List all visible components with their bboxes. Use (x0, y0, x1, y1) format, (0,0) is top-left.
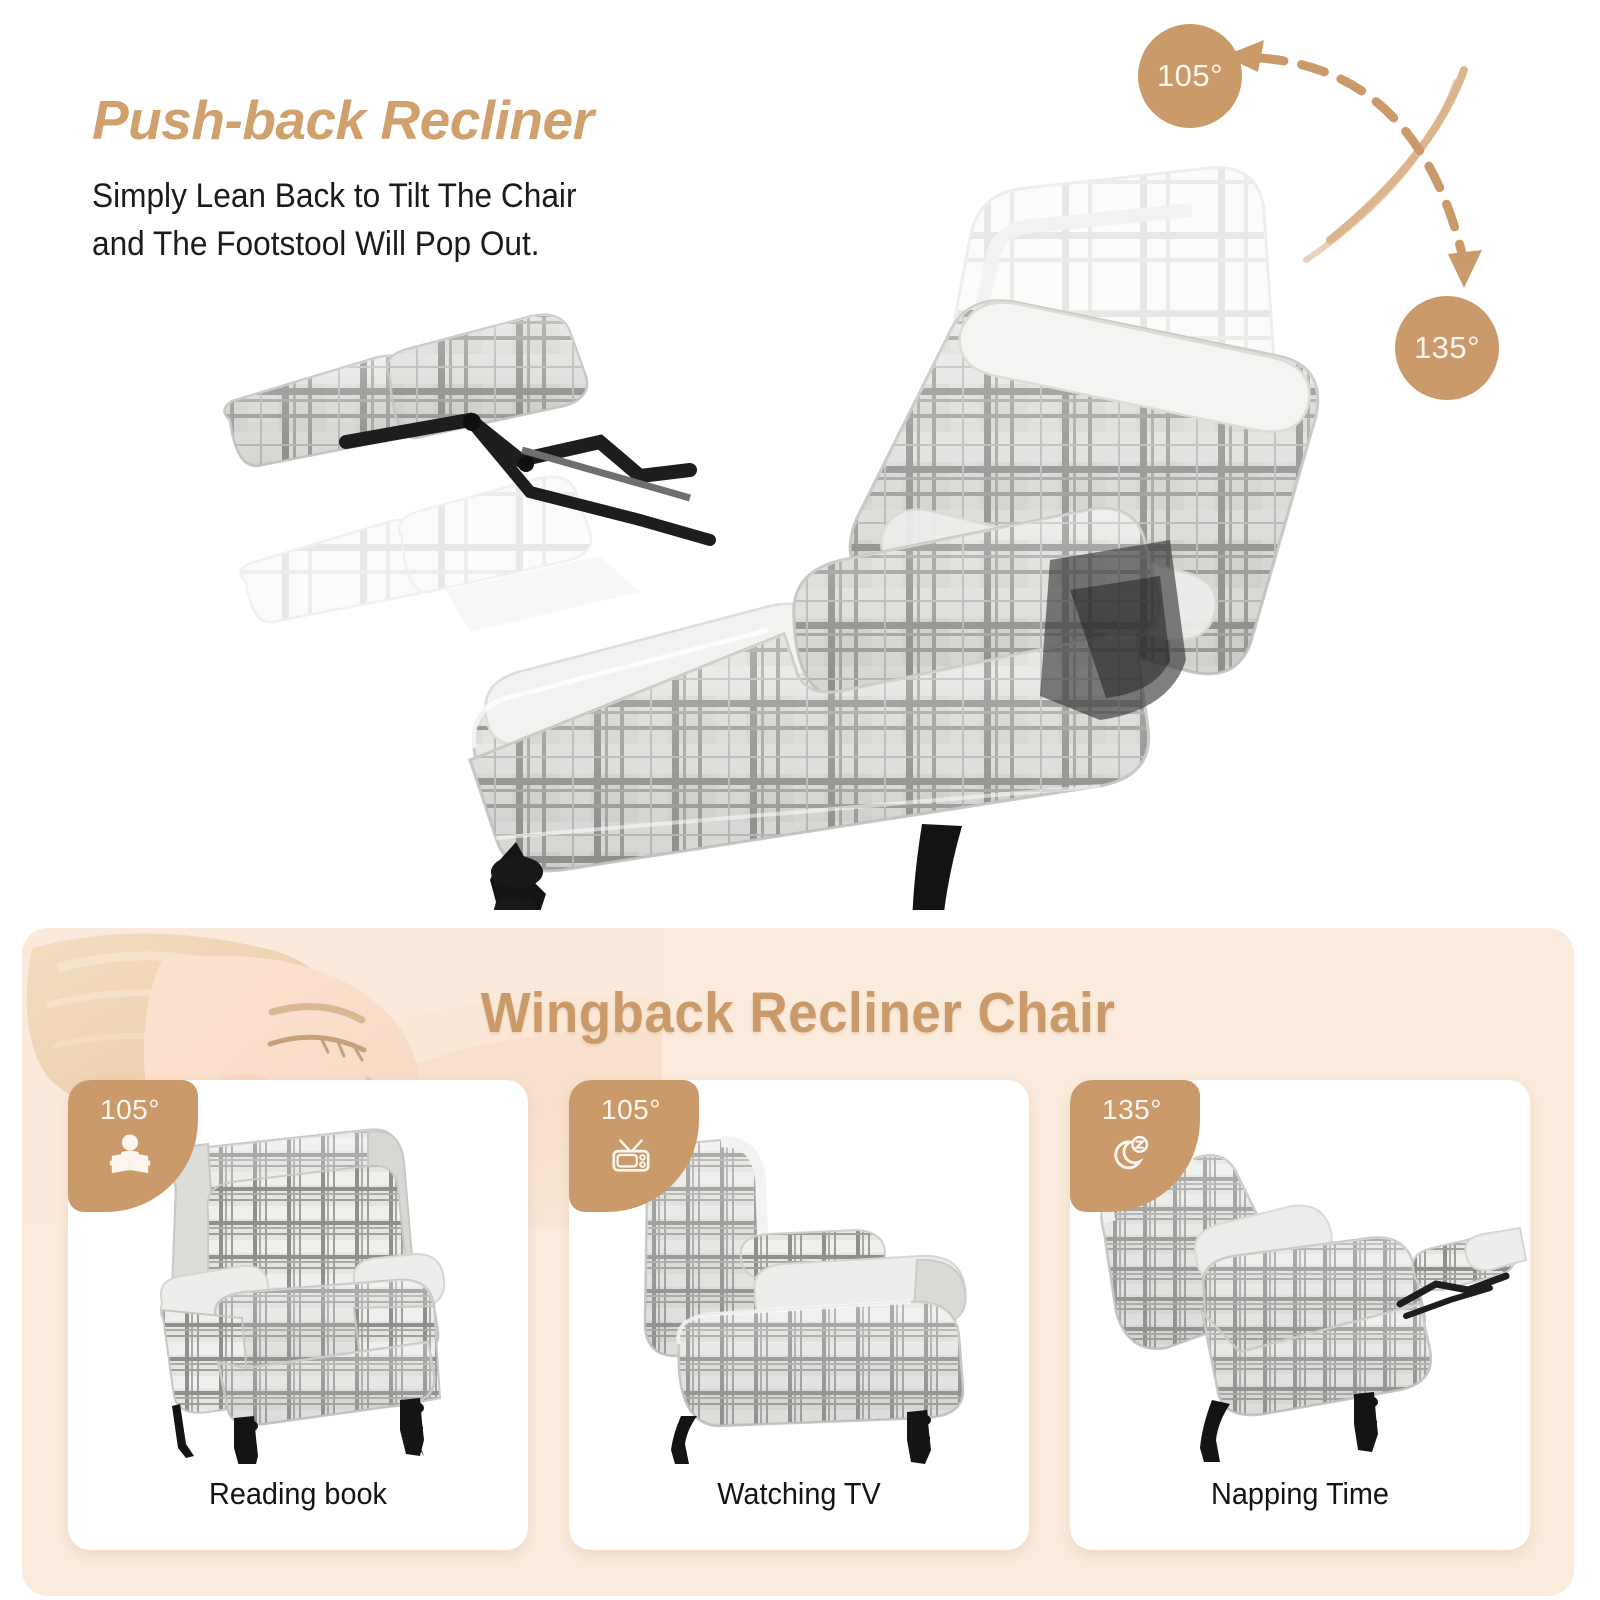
hero-section: Push-back Recliner Simply Lean Back to T… (0, 0, 1600, 930)
television-icon (608, 1131, 654, 1177)
usage-scenarios-panel: Wingback Recliner Chair 105° (22, 928, 1574, 1596)
card-caption-tv: Watching TV (585, 1476, 1013, 1512)
reading-person-icon (107, 1131, 153, 1177)
card-caption-reading: Reading book (84, 1476, 512, 1512)
scenario-cards-row: 105° (68, 1080, 1530, 1550)
moon-sleep-icon (1109, 1131, 1155, 1177)
scenario-card-reading[interactable]: 105° (68, 1080, 528, 1550)
badge-angle-label: 105° (601, 1096, 661, 1124)
badge-angle-label: 135° (1102, 1096, 1162, 1124)
scenario-card-tv[interactable]: 105° (569, 1080, 1029, 1550)
panel-title: Wingback Recliner Chair (76, 980, 1519, 1046)
scenario-card-napping[interactable]: 135° (1070, 1080, 1530, 1550)
badge-angle-label: 105° (100, 1096, 160, 1124)
card-caption-napping: Napping Time (1086, 1476, 1514, 1512)
angle-badge-135-top: 135° (1395, 296, 1499, 400)
angle-badge-105-top: 105° (1138, 24, 1242, 128)
